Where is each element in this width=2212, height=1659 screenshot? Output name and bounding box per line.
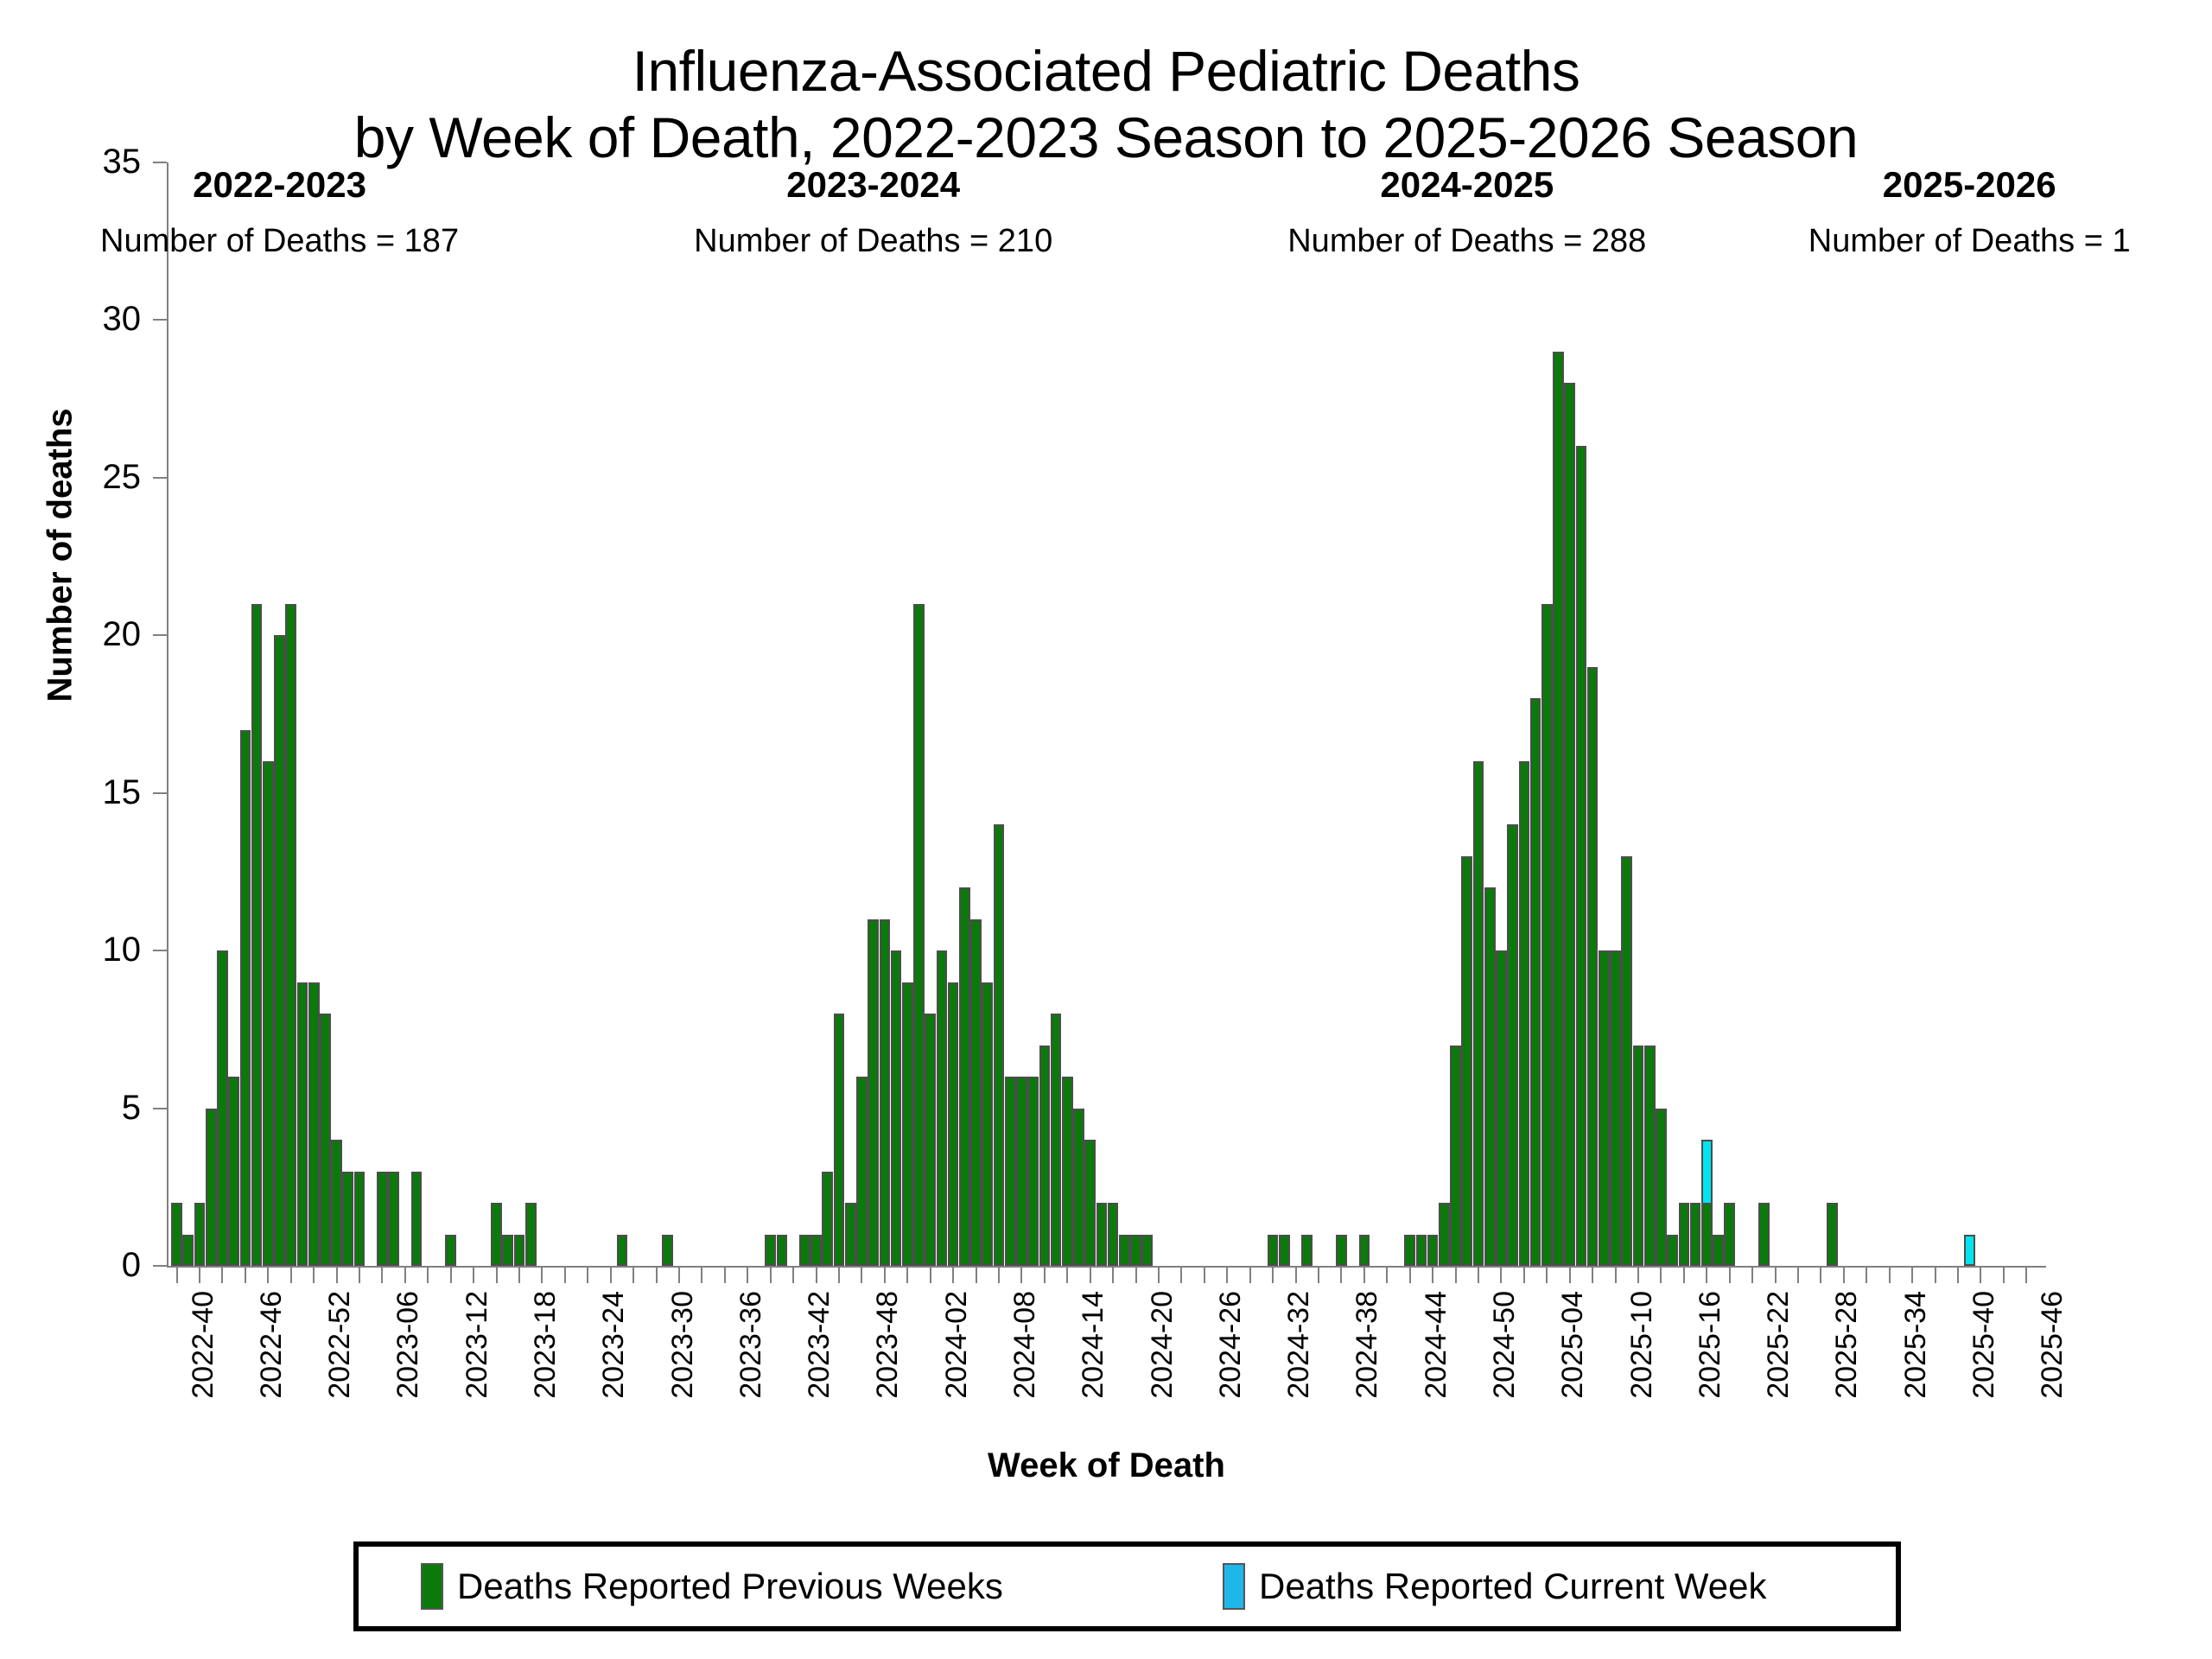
x-axis-tick — [838, 1268, 840, 1283]
x-axis-tick-label: 2024-20 — [1147, 1291, 1177, 1399]
bar-previous-weeks — [331, 1140, 342, 1266]
chart-legend: Deaths Reported Previous Weeks Deaths Re… — [353, 1541, 1901, 1631]
x-axis-tick — [770, 1268, 772, 1283]
x-axis-tick — [359, 1268, 360, 1283]
x-axis-tick — [1957, 1268, 1959, 1283]
x-axis-tick — [1295, 1268, 1297, 1283]
x-axis-tick-label: 2025-16 — [1695, 1291, 1725, 1399]
bar-previous-weeks — [959, 887, 970, 1266]
bar-previous-weeks — [1587, 667, 1599, 1266]
x-axis-tick — [1706, 1268, 1707, 1283]
season-death-count: Number of Deaths = 1 — [1808, 223, 2131, 260]
x-axis-tick — [450, 1268, 452, 1283]
x-axis-tick — [861, 1268, 862, 1283]
x-axis-tick — [496, 1268, 498, 1283]
y-axis-tick — [153, 319, 167, 321]
bar-previous-weeks — [1062, 1077, 1073, 1266]
bar-previous-weeks — [1599, 950, 1610, 1266]
x-axis-tick-label: 2024-50 — [1490, 1291, 1519, 1399]
x-axis-tick — [952, 1268, 954, 1283]
bar-previous-weeks — [411, 1172, 423, 1266]
x-axis-tick — [1432, 1268, 1433, 1283]
x-axis-tick — [267, 1268, 269, 1283]
x-axis-tick-label: 2025-28 — [1832, 1291, 1861, 1399]
bar-previous-weeks — [1621, 856, 1632, 1266]
x-axis-tick — [541, 1268, 543, 1283]
x-axis-tick-label: 2025-04 — [1558, 1291, 1587, 1399]
x-axis-tick-label: 2024-14 — [1078, 1291, 1108, 1399]
bar-previous-weeks — [1119, 1235, 1130, 1266]
bar-previous-weeks — [1141, 1235, 1153, 1266]
season-death-count: Number of Deaths = 288 — [1287, 223, 1646, 260]
bar-previous-weeks — [856, 1077, 868, 1266]
bar-previous-weeks — [913, 604, 925, 1266]
bar-previous-weeks — [206, 1109, 217, 1266]
x-axis-tick — [1090, 1268, 1091, 1283]
bar-previous-weeks — [1564, 383, 1575, 1266]
bar-previous-weeks — [1484, 887, 1496, 1266]
y-axis-tick — [153, 1108, 167, 1109]
legend-label-previous-weeks: Deaths Reported Previous Weeks — [457, 1568, 1003, 1605]
x-axis-tick-label: 2025-10 — [1627, 1291, 1656, 1399]
bar-previous-weeks — [502, 1235, 513, 1266]
bar-previous-weeks — [1679, 1203, 1690, 1266]
x-axis-tick — [1980, 1268, 1981, 1283]
x-axis-tick — [1660, 1268, 1662, 1283]
bar-previous-weeks — [1027, 1077, 1039, 1266]
x-axis-tick — [816, 1268, 817, 1283]
bar-previous-weeks — [617, 1235, 628, 1266]
x-axis-tick-label: 2023-36 — [736, 1291, 766, 1399]
x-axis-tick — [1820, 1268, 1821, 1283]
x-axis-line — [167, 1266, 2046, 1268]
x-axis-tick-label: 2025-22 — [1764, 1291, 1793, 1399]
x-axis-tick — [930, 1268, 931, 1283]
x-axis-tick — [1363, 1268, 1365, 1283]
bar-previous-weeks — [822, 1172, 833, 1266]
bar-previous-weeks — [1530, 698, 1541, 1266]
x-axis-tick — [1455, 1268, 1457, 1283]
x-axis-tick — [1135, 1268, 1137, 1283]
bar-previous-weeks — [1541, 604, 1553, 1266]
x-axis-tick-label: 2022-52 — [325, 1291, 354, 1399]
x-axis-tick — [518, 1268, 520, 1283]
x-axis-tick-label: 2025-46 — [2037, 1291, 2067, 1399]
bar-previous-weeks — [1690, 1203, 1701, 1266]
bar-previous-weeks — [342, 1172, 353, 1266]
x-axis-tick — [587, 1268, 588, 1283]
x-axis-tick-label: 2022-40 — [188, 1291, 218, 1399]
legend-item-previous-weeks: Deaths Reported Previous Weeks — [421, 1563, 1003, 1610]
x-axis-tick — [199, 1268, 200, 1283]
x-axis-tick — [1112, 1268, 1114, 1283]
bar-previous-weeks — [765, 1235, 776, 1266]
bar-previous-weeks — [1096, 1203, 1108, 1266]
bar-previous-weeks — [1404, 1235, 1415, 1266]
x-axis-tick — [473, 1268, 474, 1283]
bar-previous-weeks — [1450, 1046, 1461, 1266]
bar-previous-weeks — [388, 1172, 399, 1266]
x-axis-tick — [632, 1268, 634, 1283]
x-axis-tick-label: 2022-46 — [257, 1291, 286, 1399]
bar-previous-weeks — [251, 604, 263, 1266]
season-label: 2023-2024 — [786, 164, 960, 206]
season-label: 2022-2023 — [193, 164, 366, 206]
bar-current-week — [1964, 1235, 1975, 1266]
bar-previous-weeks — [1108, 1203, 1119, 1266]
bar-previous-weeks — [1473, 761, 1484, 1266]
bar-previous-weeks — [777, 1235, 788, 1266]
x-axis-tick — [884, 1268, 886, 1283]
x-axis-tick — [404, 1268, 406, 1283]
bar-previous-weeks — [1713, 1235, 1724, 1266]
bar-previous-weeks — [377, 1172, 388, 1266]
bar-previous-weeks — [308, 982, 320, 1266]
x-axis-tick — [1546, 1268, 1548, 1283]
bar-previous-weeks — [810, 1235, 822, 1266]
y-axis-tick — [153, 162, 167, 163]
bar-previous-weeks — [880, 919, 891, 1266]
bar-previous-weeks — [799, 1235, 810, 1266]
bar-previous-weeks — [1427, 1235, 1439, 1266]
x-axis-tick — [1797, 1268, 1799, 1283]
x-axis-tick-label: 2025-34 — [1901, 1291, 1930, 1399]
bar-previous-weeks — [891, 950, 902, 1266]
bar-previous-weeks — [948, 982, 959, 1266]
x-axis-tick-label: 2023-12 — [462, 1291, 492, 1399]
x-axis-title: Week of Death — [167, 1446, 2046, 1485]
bar-previous-weeks — [1279, 1235, 1290, 1266]
x-axis-tick-label: 2023-30 — [668, 1291, 697, 1399]
y-axis-tick — [153, 477, 167, 479]
x-axis-tick — [1478, 1268, 1479, 1283]
x-axis-tick-label: 2023-42 — [804, 1291, 834, 1399]
x-axis-tick — [1318, 1268, 1319, 1283]
x-axis-tick-label: 2024-32 — [1284, 1291, 1313, 1399]
bar-previous-weeks — [1644, 1046, 1656, 1266]
title-line-2: by Week of Death, 2022-2023 Season to 20… — [0, 105, 2212, 171]
y-axis-tick-label: 15 — [54, 775, 141, 810]
x-axis-tick — [1615, 1268, 1617, 1283]
x-axis-tick — [1204, 1268, 1205, 1283]
bar-previous-weeks — [217, 950, 228, 1266]
bar-previous-weeks — [1758, 1203, 1770, 1266]
bar-previous-weeks — [1005, 1077, 1016, 1266]
season-death-count: Number of Deaths = 187 — [100, 223, 459, 260]
x-axis-tick-label: 2024-26 — [1216, 1291, 1245, 1399]
x-axis-tick — [1500, 1268, 1502, 1283]
bar-previous-weeks — [1827, 1203, 1838, 1266]
x-axis-tick — [678, 1268, 680, 1283]
x-axis-tick — [1020, 1268, 1022, 1283]
season-death-count: Number of Deaths = 210 — [694, 223, 1052, 260]
x-axis-tick — [1683, 1268, 1685, 1283]
x-axis-tick — [656, 1268, 658, 1283]
x-axis-tick — [336, 1268, 338, 1283]
x-axis-tick — [290, 1268, 292, 1283]
bar-previous-weeks — [491, 1203, 502, 1266]
green-square-swatch — [421, 1563, 443, 1610]
bar-previous-weeks — [1724, 1203, 1735, 1266]
season-label: 2024-2025 — [1380, 164, 1554, 206]
bar-previous-weeks — [1051, 1014, 1062, 1266]
x-axis-tick-label: 2024-38 — [1352, 1291, 1382, 1399]
x-axis-tick-label: 2023-24 — [599, 1291, 628, 1399]
x-axis-tick — [998, 1268, 1000, 1283]
bar-previous-weeks — [263, 761, 274, 1266]
bar-previous-weeks — [1359, 1235, 1370, 1266]
bar-previous-weeks — [1610, 950, 1621, 1266]
x-axis-tick — [1935, 1268, 1936, 1283]
bar-previous-weeks — [845, 1203, 856, 1266]
bar-previous-weeks — [1656, 1109, 1667, 1266]
x-axis-tick-label: 2023-18 — [531, 1291, 560, 1399]
chart-figure: Influenza-Associated Pediatric Deaths by… — [0, 0, 2212, 1659]
x-axis-tick — [610, 1268, 612, 1283]
y-axis-tick-label: 20 — [54, 617, 141, 652]
y-axis-tick — [153, 634, 167, 636]
x-axis-tick — [1729, 1268, 1731, 1283]
y-axis-tick-label: 10 — [54, 932, 141, 967]
x-axis-tick — [245, 1268, 246, 1283]
bar-previous-weeks — [970, 919, 982, 1266]
bar-previous-weeks — [868, 919, 879, 1266]
bar-previous-weeks — [171, 1203, 182, 1266]
x-axis-tick — [724, 1268, 726, 1283]
x-axis-tick — [1226, 1268, 1228, 1283]
y-axis-line — [167, 162, 168, 1266]
y-axis-title: Number of deaths — [41, 374, 80, 737]
x-axis-tick — [313, 1268, 315, 1283]
bar-previous-weeks — [445, 1235, 456, 1266]
x-axis-tick — [1180, 1268, 1182, 1283]
bar-previous-weeks — [1507, 824, 1518, 1266]
x-axis-tick — [1889, 1268, 1891, 1283]
season-label: 2025-2026 — [1883, 164, 2056, 206]
bar-previous-weeks — [994, 824, 1005, 1266]
x-axis-tick — [1592, 1268, 1593, 1283]
x-axis-tick — [1409, 1268, 1411, 1283]
bar-previous-weeks — [1301, 1235, 1313, 1266]
bar-previous-weeks — [1576, 446, 1587, 1266]
bar-previous-weeks — [1667, 1235, 1678, 1266]
x-axis-tick — [1158, 1268, 1160, 1283]
y-axis-tick-label: 5 — [54, 1090, 141, 1125]
x-axis-tick-label: 2024-08 — [1010, 1291, 1039, 1399]
x-axis-tick — [1272, 1268, 1274, 1283]
x-axis-tick — [1775, 1268, 1777, 1283]
title-line-1: Influenza-Associated Pediatric Deaths — [0, 38, 2212, 105]
bar-previous-weeks — [1496, 950, 1507, 1266]
bar-previous-weeks — [834, 1014, 845, 1266]
legend-label-current-week: Deaths Reported Current Week — [1259, 1568, 1767, 1605]
y-axis-tick — [153, 1265, 167, 1267]
y-axis-tick — [153, 950, 167, 951]
bar-previous-weeks — [925, 1014, 936, 1266]
bar-previous-weeks — [240, 730, 251, 1266]
bar-previous-weeks — [320, 1014, 331, 1266]
x-axis-tick — [976, 1268, 977, 1283]
bar-previous-weeks — [1073, 1109, 1084, 1266]
bar-previous-weeks — [1084, 1140, 1096, 1266]
x-axis-tick — [1751, 1268, 1753, 1283]
x-axis-tick — [2025, 1268, 2027, 1283]
bar-previous-weeks — [514, 1235, 525, 1266]
page-title: Influenza-Associated Pediatric Deaths by… — [0, 38, 2212, 170]
x-axis-tick — [564, 1268, 566, 1283]
bar-previous-weeks — [1336, 1235, 1347, 1266]
bar-previous-weeks — [1130, 1235, 1141, 1266]
x-axis-tick — [1866, 1268, 1867, 1283]
bar-previous-weeks — [982, 982, 993, 1266]
bar-previous-weeks — [194, 1203, 206, 1266]
y-axis-tick — [153, 792, 167, 794]
bar-previous-weeks — [354, 1172, 365, 1266]
x-axis-tick — [381, 1268, 383, 1283]
x-axis-tick-label: 2024-44 — [1421, 1291, 1451, 1399]
y-axis-tick-label: 25 — [54, 460, 141, 494]
x-axis-tick — [1637, 1268, 1639, 1283]
bar-previous-weeks — [297, 982, 308, 1266]
bar-previous-weeks — [902, 982, 913, 1266]
bar-previous-weeks — [1268, 1235, 1279, 1266]
bar-previous-weeks — [1553, 352, 1564, 1266]
x-axis-tick-label: 2023-48 — [873, 1291, 902, 1399]
y-axis-tick-label: 0 — [54, 1248, 141, 1282]
bar-previous-weeks — [1461, 856, 1472, 1266]
x-axis-tick — [427, 1268, 429, 1283]
bar-previous-weeks — [1701, 1203, 1713, 1266]
bar-previous-weeks — [525, 1203, 537, 1266]
y-axis-tick-label: 35 — [54, 144, 141, 179]
x-axis-tick — [1569, 1268, 1571, 1283]
bar-previous-weeks — [228, 1077, 239, 1266]
bar-previous-weeks — [1633, 1046, 1644, 1266]
legend-item-current-week: Deaths Reported Current Week — [1223, 1563, 1767, 1610]
x-axis-tick — [701, 1268, 702, 1283]
y-axis-tick-label: 30 — [54, 302, 141, 336]
x-axis-tick — [1523, 1268, 1525, 1283]
x-axis-tick-label: 2024-02 — [942, 1291, 971, 1399]
bar-previous-weeks — [1439, 1203, 1450, 1266]
bar-previous-weeks — [1016, 1077, 1027, 1266]
x-axis-tick — [221, 1268, 223, 1283]
bar-previous-weeks — [1039, 1046, 1051, 1266]
x-axis-tick — [1249, 1268, 1251, 1283]
bar-previous-weeks — [182, 1235, 194, 1266]
x-axis-tick — [1386, 1268, 1388, 1283]
x-axis-tick — [792, 1268, 794, 1283]
x-axis-tick — [1911, 1268, 1913, 1283]
x-axis-tick — [906, 1268, 908, 1283]
x-axis-tick — [1044, 1268, 1046, 1283]
x-axis-tick-label: 2023-06 — [393, 1291, 423, 1399]
x-axis-tick — [1843, 1268, 1845, 1283]
bar-previous-weeks — [285, 604, 296, 1266]
plot-area: 05101520253035 2022-402022-462022-522023… — [167, 162, 2046, 1266]
x-axis-tick — [2003, 1268, 2005, 1283]
x-axis-tick — [747, 1268, 748, 1283]
x-axis-tick — [1066, 1268, 1068, 1283]
cyan-square-swatch — [1223, 1563, 1245, 1610]
bar-previous-weeks — [274, 635, 285, 1266]
x-axis-tick — [1340, 1268, 1342, 1283]
bar-previous-weeks — [662, 1235, 673, 1266]
x-axis-tick-label: 2025-40 — [1969, 1291, 1999, 1399]
bar-previous-weeks — [1519, 761, 1530, 1266]
bar-previous-weeks — [1416, 1235, 1427, 1266]
bar-previous-weeks — [937, 950, 948, 1266]
x-axis-tick — [176, 1268, 178, 1283]
